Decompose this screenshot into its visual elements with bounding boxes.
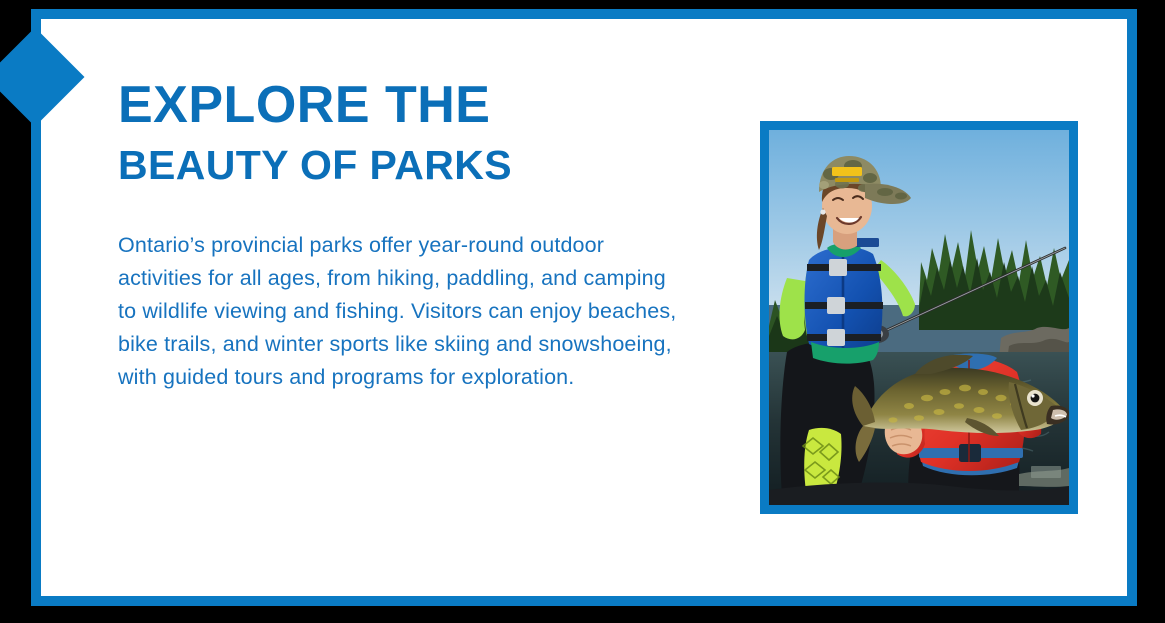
fishing-photo [769,130,1069,505]
photo-frame [760,121,1078,514]
slide-canvas: EXPLORE THE BEAUTY OF PARKS Ontario’s pr… [0,0,1165,623]
page-title-line-1: EXPLORE THE [118,75,698,135]
page-title-line-2: BEAUTY OF PARKS [118,141,698,189]
fishing-photo-illustration [769,130,1069,505]
text-content-block: EXPLORE THE BEAUTY OF PARKS Ontario’s pr… [118,75,698,394]
body-paragraph: Ontario’s provincial parks offer year-ro… [118,229,678,394]
